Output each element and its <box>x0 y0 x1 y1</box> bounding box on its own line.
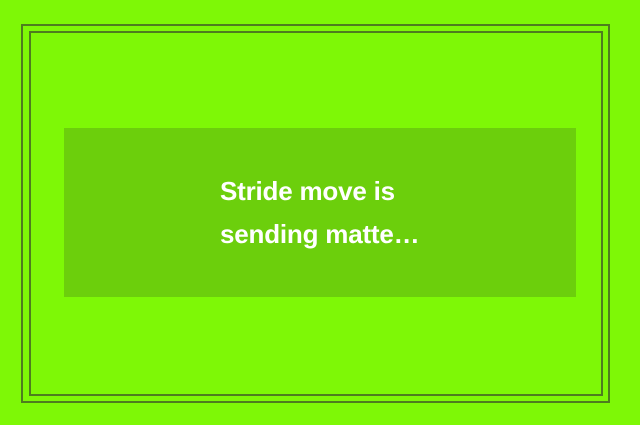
message-text: Stride move is sending matte… <box>64 170 576 256</box>
message-panel: Stride move is sending matte… <box>64 128 576 297</box>
image-canvas: Stride move is sending matte… <box>0 0 640 425</box>
